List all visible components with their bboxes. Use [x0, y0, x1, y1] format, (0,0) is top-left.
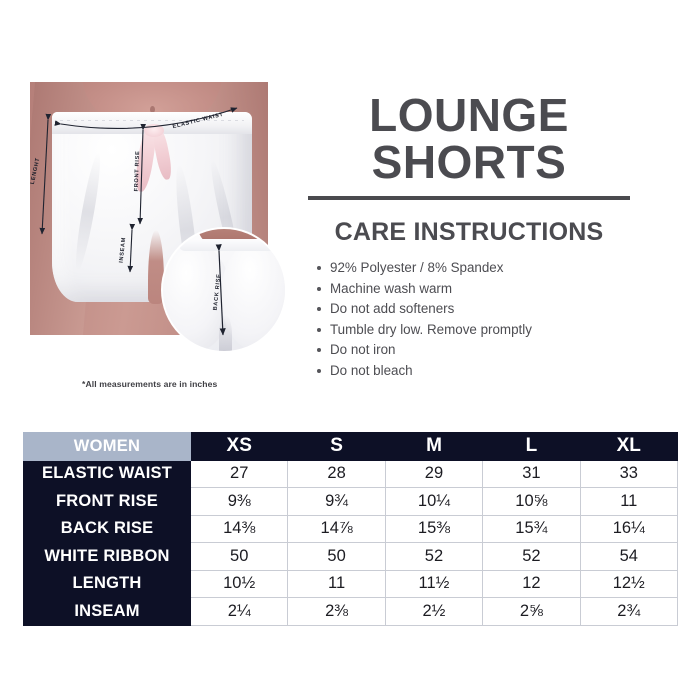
care-item: Tumble dry low. Remove promptly [316, 320, 646, 341]
cell-front-rise-m: 10¼ [385, 488, 482, 516]
cell-back-rise-l: 15¾ [483, 515, 580, 543]
cell-elastic-waist-l: 31 [483, 460, 580, 488]
title-divider [308, 196, 630, 200]
cell-length-m: 11½ [385, 570, 482, 598]
row-label-inseam: INSEAM [24, 598, 191, 626]
row-label-length: LENGTH [24, 570, 191, 598]
shorts-back-view-inset: BACK RISE [163, 229, 285, 351]
cell-inseam-xl: 2¾ [580, 598, 677, 626]
header-size-xs: XS [191, 433, 288, 461]
care-instructions-heading: CARE INSTRUCTIONS [300, 218, 638, 247]
size-chart-table: WOMEN XS S M L XL ELASTIC WAIST 27 28 29… [23, 432, 678, 626]
cell-white-ribbon-xl: 54 [580, 543, 677, 571]
cell-white-ribbon-xs: 50 [191, 543, 288, 571]
title-line-1: LOUNGE [300, 92, 638, 139]
table-row: FRONT RISE 9⅜ 9¾ 10¼ 10⅝ 11 [24, 488, 678, 516]
header-women: WOMEN [24, 433, 191, 461]
table-row: LENGTH 10½ 11 11½ 12 12½ [24, 570, 678, 598]
row-label-elastic-waist: ELASTIC WAIST [24, 460, 191, 488]
cell-inseam-s: 2⅜ [288, 598, 385, 626]
table-row: WHITE RIBBON 50 50 52 52 54 [24, 543, 678, 571]
cell-front-rise-xl: 11 [580, 488, 677, 516]
table-row: INSEAM 2¼ 2⅜ 2½ 2⅝ 2¾ [24, 598, 678, 626]
cell-white-ribbon-m: 52 [385, 543, 482, 571]
header-size-xl: XL [580, 433, 677, 461]
table-row: ELASTIC WAIST 27 28 29 31 33 [24, 460, 678, 488]
cell-elastic-waist-s: 28 [288, 460, 385, 488]
care-item: 92% Polyester / 8% Spandex [316, 258, 646, 279]
row-label-front-rise: FRONT RISE [24, 488, 191, 516]
cell-front-rise-xs: 9⅜ [191, 488, 288, 516]
care-item: Do not add softeners [316, 299, 646, 320]
cell-back-rise-xs: 14⅜ [191, 515, 288, 543]
cell-inseam-m: 2½ [385, 598, 482, 626]
care-item: Do not iron [316, 340, 646, 361]
header-size-s: S [288, 433, 385, 461]
cell-length-s: 11 [288, 570, 385, 598]
row-label-back-rise: BACK RISE [24, 515, 191, 543]
table-header-row: WOMEN XS S M L XL [24, 433, 678, 461]
cell-back-rise-m: 15⅜ [385, 515, 482, 543]
cell-length-l: 12 [483, 570, 580, 598]
cell-inseam-xs: 2¼ [191, 598, 288, 626]
cell-elastic-waist-m: 29 [385, 460, 482, 488]
cell-elastic-waist-xl: 33 [580, 460, 677, 488]
page-title: LOUNGE SHORTS [300, 92, 638, 186]
header-size-m: M [385, 433, 482, 461]
back-rise-arrow [163, 229, 285, 351]
cell-length-xl: 12½ [580, 570, 677, 598]
table-row: BACK RISE 14⅜ 14⅞ 15⅜ 15¾ 16¼ [24, 515, 678, 543]
care-item: Machine wash warm [316, 279, 646, 300]
cell-white-ribbon-s: 50 [288, 543, 385, 571]
cell-inseam-l: 2⅝ [483, 598, 580, 626]
cell-back-rise-xl: 16¼ [580, 515, 677, 543]
cell-front-rise-l: 10⅝ [483, 488, 580, 516]
care-instructions-list: 92% Polyester / 8% Spandex Machine wash … [316, 258, 646, 382]
cell-back-rise-s: 14⅞ [288, 515, 385, 543]
care-item: Do not bleach [316, 361, 646, 382]
cell-white-ribbon-l: 52 [483, 543, 580, 571]
table-body: ELASTIC WAIST 27 28 29 31 33 FRONT RISE … [24, 460, 678, 625]
header-size-l: L [483, 433, 580, 461]
cell-elastic-waist-xs: 27 [191, 460, 288, 488]
size-chart-sheet: ELASTIC WAIST LENGHT FRONT RISE INSEAM B… [0, 0, 700, 700]
title-line-2: SHORTS [300, 139, 638, 186]
row-label-white-ribbon: WHITE RIBBON [24, 543, 191, 571]
cell-length-xs: 10½ [191, 570, 288, 598]
measurements-footnote: *All measurements are in inches [82, 379, 217, 389]
cell-front-rise-s: 9¾ [288, 488, 385, 516]
